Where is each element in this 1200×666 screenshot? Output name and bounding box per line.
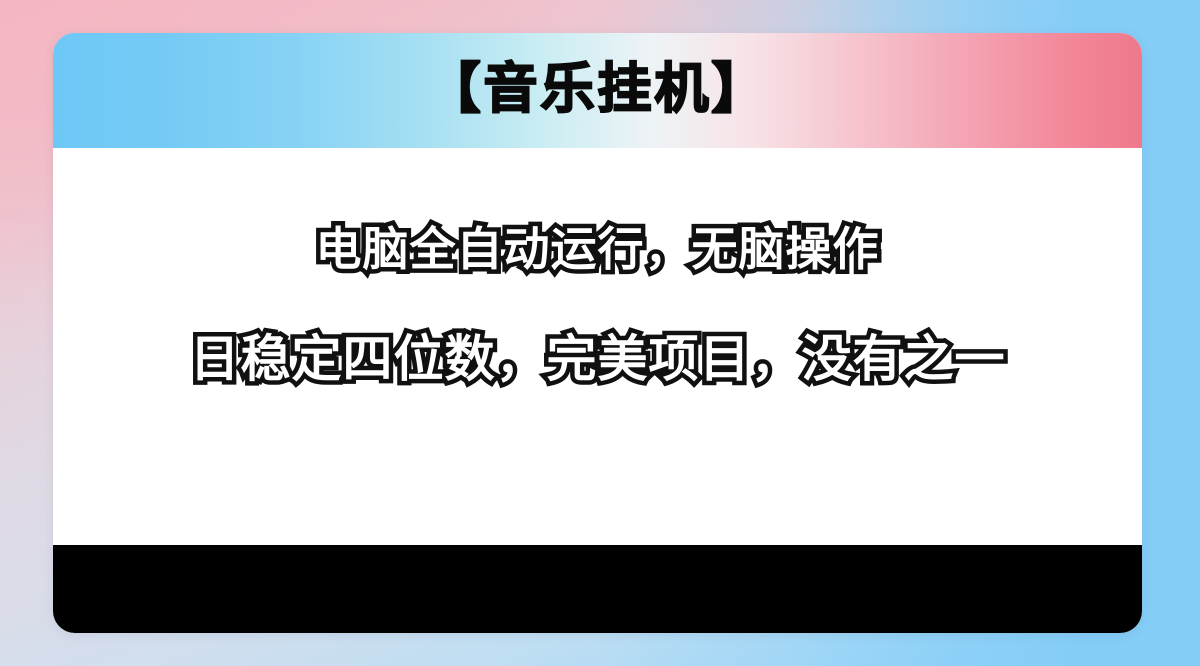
body-line-2: 日稳定四位数，完美项目，没有之一 [190, 334, 1006, 384]
body-line-1: 电脑全自动运行，无脑操作 [316, 226, 880, 272]
card-banner: 【音乐挂机】 [53, 33, 1142, 148]
card-body: 电脑全自动运行，无脑操作 日稳定四位数，完美项目，没有之一 [53, 148, 1142, 545]
promo-card: 【音乐挂机】 电脑全自动运行，无脑操作 日稳定四位数，完美项目，没有之一 [53, 33, 1142, 633]
banner-title: 【音乐挂机】 [427, 62, 769, 116]
poster-canvas: 【音乐挂机】 电脑全自动运行，无脑操作 日稳定四位数，完美项目，没有之一 [0, 0, 1200, 666]
card-footer-bar [53, 545, 1142, 633]
